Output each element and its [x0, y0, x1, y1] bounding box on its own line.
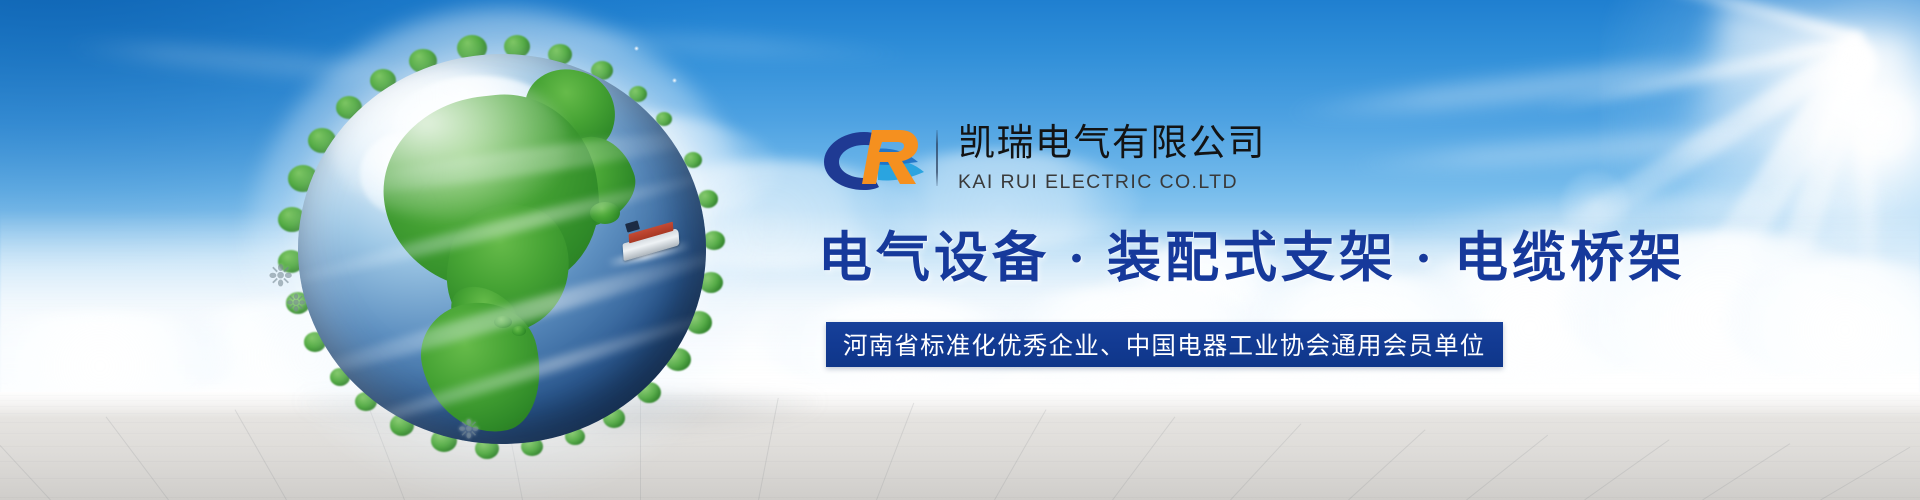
tree-cluster	[703, 231, 725, 250]
pavement-joint-perspective	[1112, 417, 1175, 500]
sparkle	[672, 78, 677, 83]
sparkle	[634, 46, 639, 51]
pavement-joint-horizontal	[0, 478, 1920, 479]
headline-slogan: 电气设备 · 装配式支架 · 电缆桥架	[818, 230, 1686, 287]
pavement-joint-perspective	[994, 409, 1046, 500]
company-logo[interactable]: 凯瑞电气有限公司 KAI RUI ELECTRIC CO.LTD	[820, 122, 1266, 194]
pavement-joint-perspective	[1466, 435, 1548, 500]
pavement-joint-perspective	[106, 417, 169, 500]
credentials-text: 河南省标准化优秀企业、中国电器工业协会通用会员单位	[843, 327, 1486, 362]
palm-tree-icon: ❉	[458, 416, 480, 442]
credentials-ribbon: 河南省标准化优秀企业、中国电器工业协会通用会员单位	[826, 322, 1503, 367]
pavement-joint-perspective	[1820, 447, 1910, 500]
palm-tree-icon: ❉	[268, 262, 293, 292]
company-name-block: 凯瑞电气有限公司 KAI RUI ELECTRIC CO.LTD	[958, 122, 1266, 194]
company-name-en: KAI RUI ELECTRIC CO.LTD	[958, 170, 1266, 194]
green-earth-globe: ❉ ❉ ❉	[276, 34, 728, 464]
pavement-joint-perspective	[1584, 439, 1669, 500]
landmass-island	[512, 326, 526, 336]
pavement-joint-perspective	[1702, 443, 1790, 500]
cr-monogram-logo[interactable]	[820, 122, 928, 194]
palm-tree-icon: ❉	[286, 292, 306, 316]
pavement-joint-perspective	[1348, 429, 1425, 500]
logo-divider	[936, 130, 938, 186]
hero-banner: ❉ ❉ ❉ 凯瑞电气有限公司 KAI RUI ELECTRIC CO.LTD 电…	[0, 0, 1920, 500]
globe-sphere	[298, 54, 706, 444]
sphere-highlight	[330, 70, 570, 220]
company-name-cn: 凯瑞电气有限公司	[958, 122, 1266, 163]
pavement-joint-horizontal	[0, 497, 1920, 498]
